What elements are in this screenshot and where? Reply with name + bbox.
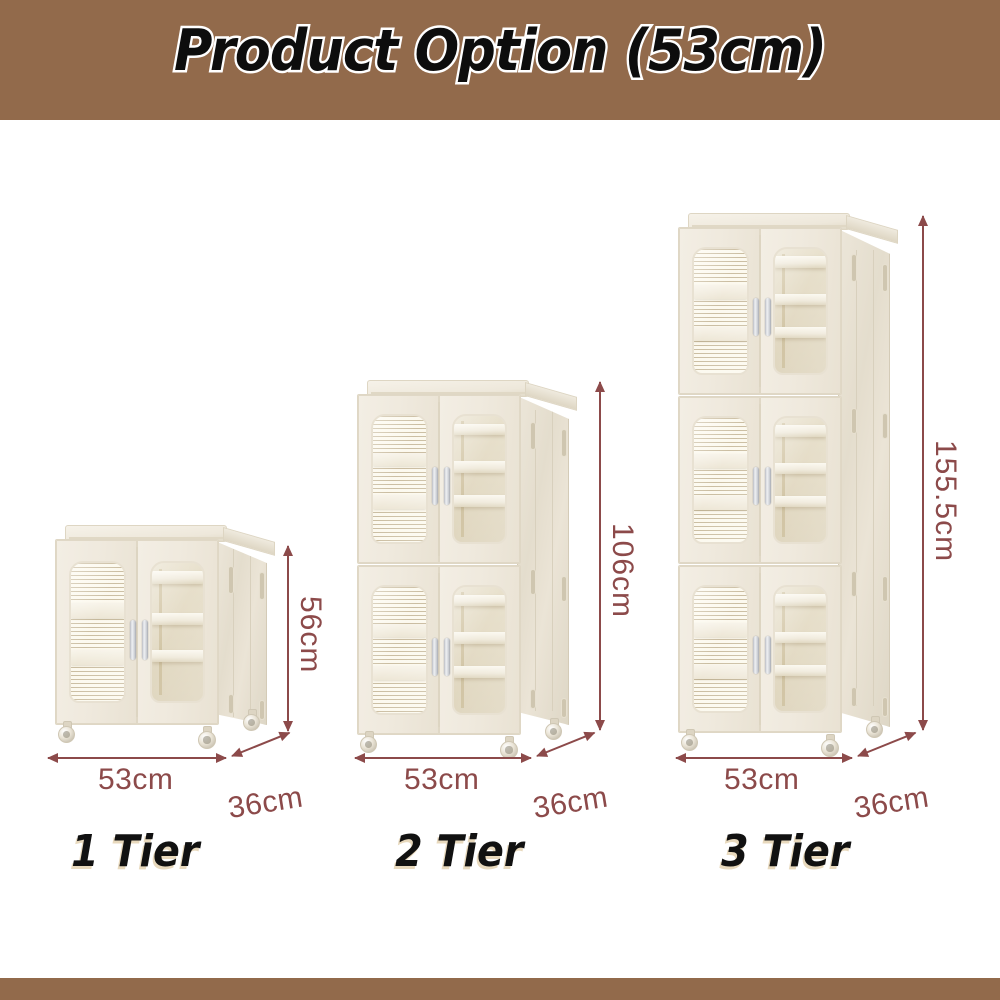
caster-front-left	[681, 734, 698, 751]
side-latch-tab	[852, 409, 856, 433]
door-window-right	[150, 561, 205, 703]
side-latch-tab	[229, 567, 233, 593]
height-arrow-3-tier	[922, 216, 924, 730]
side-latch-tab	[229, 695, 233, 713]
glass-gloss	[775, 418, 826, 542]
door-window-left	[692, 585, 749, 713]
door-seam	[759, 404, 761, 557]
cabinet-door-right[interactable]	[439, 566, 520, 734]
cabinet-door-right[interactable]	[760, 397, 841, 563]
width-label-2-tier: 53cm	[404, 763, 479, 797]
side-latch-tab	[531, 570, 535, 594]
side-latch-tab	[852, 688, 856, 706]
door-window-right	[452, 414, 507, 544]
caster-hub	[203, 736, 210, 743]
door-window-left	[692, 247, 749, 375]
cabinet-door-left[interactable]	[679, 228, 760, 394]
door-handle-left[interactable]	[130, 620, 136, 660]
side-latch-tab	[562, 699, 566, 717]
cabinet-door-right[interactable]	[137, 540, 218, 724]
width-arrow-1-tier	[48, 757, 226, 759]
caster-hub	[365, 741, 372, 748]
page-title: Product Option (53cm)	[40, 18, 960, 84]
door-window-right	[452, 585, 507, 715]
door-handle-right[interactable]	[765, 636, 771, 674]
storage-module	[55, 539, 219, 725]
door-window-right	[773, 585, 828, 713]
tier-caption-1: 1 Tier	[71, 826, 199, 877]
side-latch-tab	[883, 577, 887, 601]
storage-module	[678, 565, 842, 733]
caster-front-left	[360, 736, 377, 753]
caster-hub	[248, 719, 255, 726]
door-handle-right[interactable]	[444, 467, 450, 505]
cabinet-door-right[interactable]	[439, 395, 520, 563]
storage-module	[678, 227, 842, 395]
caster-hub	[63, 731, 70, 738]
door-handle-left[interactable]	[753, 298, 759, 336]
cabinet-door-right[interactable]	[760, 566, 841, 732]
door-window-right	[773, 416, 828, 544]
caster-front-left	[58, 726, 75, 743]
caster-hub	[826, 744, 833, 751]
glass-gloss	[454, 416, 505, 542]
side-latch-tab	[260, 573, 264, 599]
tier-caption-3: 3 Tier	[721, 826, 849, 877]
cabinet-door-left[interactable]	[679, 397, 760, 563]
door-window-left	[692, 416, 749, 544]
cabinet-door-left[interactable]	[358, 566, 439, 734]
side-latch-tab	[531, 690, 535, 708]
glass-gloss	[373, 587, 426, 713]
door-handle-right[interactable]	[142, 620, 148, 660]
width-label-3-tier: 53cm	[724, 763, 799, 797]
side-latch-tab	[883, 414, 887, 438]
caster-back-right	[545, 723, 562, 740]
depth-arrow-3-tier	[858, 732, 916, 757]
caster-hub	[871, 726, 878, 733]
caster-front-right	[821, 739, 839, 757]
cabinet-door-left[interactable]	[679, 566, 760, 732]
height-label-3-tier: 155.5cm	[928, 440, 962, 562]
door-seam	[759, 235, 761, 388]
footer-banner	[0, 978, 1000, 1000]
side-fold-line	[250, 549, 251, 716]
door-window-left	[371, 585, 428, 715]
height-label-1-tier: 56cm	[293, 596, 327, 673]
depth-label-2-tier: 36cm	[531, 781, 611, 826]
cabinet-door-right[interactable]	[760, 228, 841, 394]
product-option-infographic: Product Option (53cm)	[0, 0, 1000, 1000]
door-handle-right[interactable]	[765, 467, 771, 505]
cabinet-side-panel	[838, 229, 890, 727]
side-fold-line	[873, 250, 874, 706]
cabinet-side-panel	[517, 396, 569, 725]
door-handle-left[interactable]	[753, 636, 759, 674]
width-label-1-tier: 53cm	[98, 763, 173, 797]
door-seam	[438, 573, 440, 728]
side-latch-tab	[852, 572, 856, 596]
side-latch-tab	[883, 698, 887, 716]
glass-gloss	[775, 249, 826, 373]
cabinet-door-left[interactable]	[358, 395, 439, 563]
door-handle-left[interactable]	[432, 467, 438, 505]
cabinet-door-left[interactable]	[56, 540, 137, 724]
door-window-right	[773, 247, 828, 375]
side-latch-tab	[852, 255, 856, 281]
glass-gloss	[775, 587, 826, 711]
door-handle-right[interactable]	[765, 298, 771, 336]
side-fold-line	[552, 410, 553, 711]
door-handle-left[interactable]	[432, 638, 438, 676]
glass-gloss	[71, 563, 124, 701]
door-window-left	[371, 414, 428, 544]
height-label-2-tier: 106cm	[605, 523, 639, 618]
side-fold-line	[233, 549, 234, 716]
storage-module	[678, 396, 842, 564]
depth-label-3-tier: 36cm	[852, 781, 932, 826]
storage-module	[357, 394, 521, 564]
glass-gloss	[373, 416, 426, 542]
door-seam	[438, 402, 440, 557]
door-handle-right[interactable]	[444, 638, 450, 676]
door-seam	[759, 573, 761, 726]
glass-gloss	[694, 249, 747, 373]
width-arrow-2-tier	[355, 757, 531, 759]
side-latch-tab	[562, 430, 566, 456]
side-latch-tab	[562, 577, 566, 601]
storage-module	[357, 565, 521, 735]
glass-gloss	[694, 418, 747, 542]
side-latch-tab	[260, 701, 264, 719]
caster-hub	[550, 728, 557, 735]
glass-gloss	[152, 563, 203, 701]
depth-arrow-1-tier	[232, 732, 290, 757]
height-arrow-2-tier	[599, 382, 601, 730]
tier-caption-2: 2 Tier	[395, 826, 523, 877]
side-latch-tab	[531, 423, 535, 449]
caster-back-right	[243, 714, 260, 731]
door-handle-left[interactable]	[753, 467, 759, 505]
door-window-left	[69, 561, 126, 703]
door-seam	[136, 547, 138, 716]
cabinet-side-panel	[215, 541, 267, 725]
width-arrow-3-tier	[676, 757, 852, 759]
depth-label-1-tier: 36cm	[226, 781, 306, 826]
caster-back-right	[866, 721, 883, 738]
glass-gloss	[694, 587, 747, 711]
caster-hub	[505, 746, 512, 753]
height-arrow-1-tier	[287, 546, 289, 731]
caster-front-right	[198, 731, 216, 749]
side-latch-tab	[883, 265, 887, 291]
side-fold-line	[535, 410, 536, 711]
side-fold-line	[856, 250, 857, 706]
glass-gloss	[454, 587, 505, 713]
caster-hub	[686, 739, 693, 746]
